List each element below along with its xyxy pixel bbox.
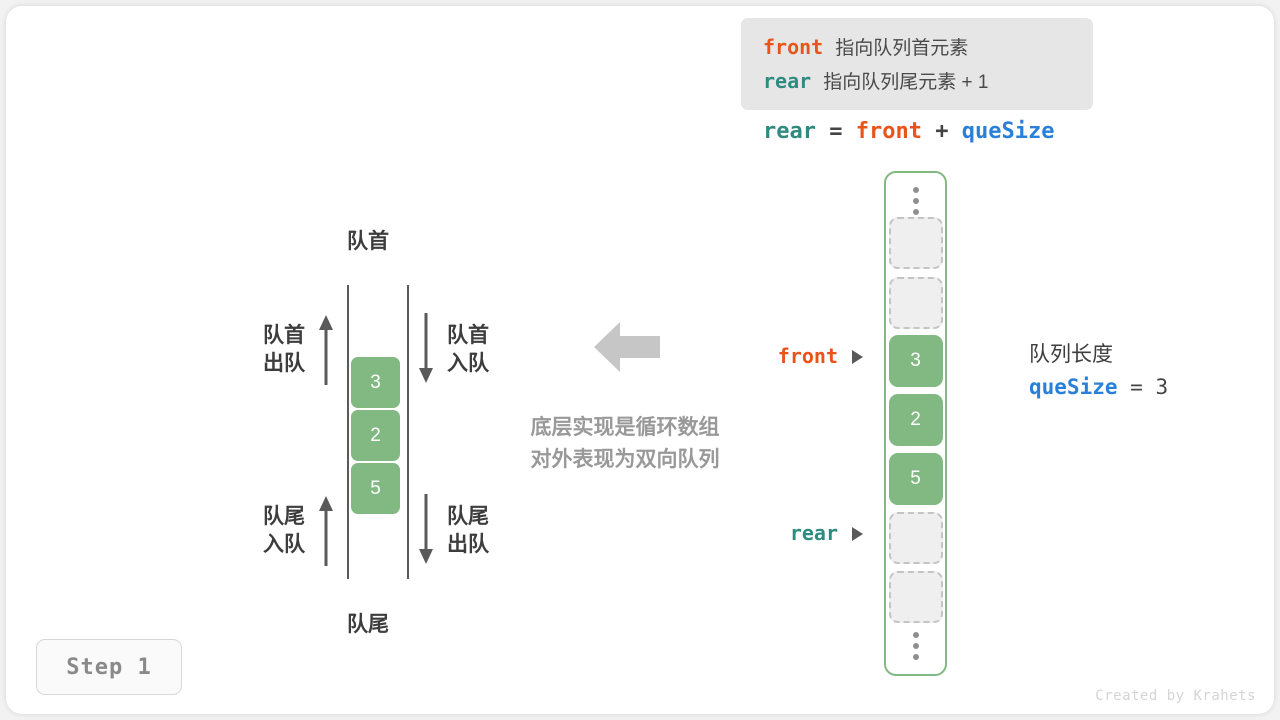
array-slot	[889, 571, 943, 623]
head-enqueue-line1: 队首	[447, 322, 507, 350]
head-enqueue-line2: 入队	[447, 350, 507, 378]
legend-text-front: 指向队列首元素	[835, 38, 968, 59]
ellipsis-top-icon	[913, 187, 919, 215]
step-badge: Step 1	[36, 639, 182, 695]
array-slot: 2	[889, 394, 943, 446]
legend-text-rear: 指向队列尾元素 + 1	[823, 72, 988, 93]
queue-size-caption: 队列长度	[1029, 340, 1168, 370]
head-dequeue-line1: 队首	[249, 322, 305, 350]
array-slot	[889, 217, 943, 269]
arrow-down-tail-dequeue-icon	[418, 494, 434, 566]
legend-line-front: front 指向队列首元素	[763, 31, 1093, 65]
formula-front: front	[856, 119, 922, 144]
arrow-up-head-dequeue-icon	[318, 313, 334, 385]
queue-size-equals: =	[1130, 375, 1143, 399]
implementation-note-line1: 底层实现是循环数组	[503, 412, 747, 444]
deque-cell: 5	[351, 463, 400, 514]
tail-enqueue-line2: 入队	[249, 531, 305, 559]
queue-size-name: queSize	[1029, 375, 1118, 399]
front-pointer-arrow-icon	[852, 350, 863, 364]
tail-dequeue-line2: 出队	[447, 531, 507, 559]
tail-dequeue-line1: 队尾	[447, 503, 507, 531]
rear-formula: rear = front + queSize	[763, 119, 1054, 144]
formula-plus: +	[935, 119, 948, 144]
deque-rail-right	[407, 285, 409, 579]
deque-rail-left	[347, 285, 349, 579]
head-dequeue-label: 队首 出队	[249, 322, 305, 378]
front-pointer-label: front	[766, 344, 838, 368]
deque-tail-label: 队尾	[347, 611, 389, 639]
queue-size-annotation: 队列长度 queSize = 3	[1029, 340, 1168, 404]
deque-cell: 2	[351, 410, 400, 461]
arrow-up-tail-enqueue-icon	[318, 494, 334, 566]
rear-pointer-arrow-icon	[852, 527, 863, 541]
array-slot: 3	[889, 335, 943, 387]
head-enqueue-label: 队首 入队	[447, 322, 507, 378]
credit-text: Created by Krahets	[1095, 688, 1256, 704]
deque-head-label: 队首	[347, 228, 389, 256]
queue-size-formula: queSize = 3	[1029, 370, 1168, 404]
ellipsis-bottom-icon	[913, 632, 919, 660]
diagram-canvas: front 指向队列首元素 rear 指向队列尾元素 + 1 rear = fr…	[0, 0, 1280, 720]
arrow-down-head-enqueue-icon	[418, 313, 434, 385]
formula-equals: =	[829, 119, 842, 144]
queue-size-value: 3	[1155, 375, 1168, 399]
array-slot: 5	[889, 453, 943, 505]
tail-enqueue-line1: 队尾	[249, 503, 305, 531]
tail-enqueue-label: 队尾 入队	[249, 503, 305, 559]
tail-dequeue-label: 队尾 出队	[447, 503, 507, 559]
deque-cell: 3	[351, 357, 400, 408]
pointer-legend-box: front 指向队列首元素 rear 指向队列尾元素 + 1	[741, 18, 1093, 110]
legend-line-rear: rear 指向队列尾元素 + 1	[763, 65, 1093, 99]
array-slot	[889, 512, 943, 564]
head-dequeue-line2: 出队	[249, 350, 305, 378]
legend-keyword-front: front	[763, 35, 823, 59]
formula-rear: rear	[763, 119, 816, 144]
array-slot	[889, 277, 943, 329]
legend-keyword-rear: rear	[763, 69, 811, 93]
implementation-note-line2: 对外表现为双向队列	[503, 444, 747, 476]
circular-array-column: 3 2 5	[884, 171, 947, 676]
left-pointing-block-arrow-icon	[594, 320, 660, 374]
formula-quesize: queSize	[962, 119, 1055, 144]
implementation-note: 底层实现是循环数组 对外表现为双向队列	[503, 412, 747, 476]
rear-pointer-label: rear	[766, 521, 838, 545]
